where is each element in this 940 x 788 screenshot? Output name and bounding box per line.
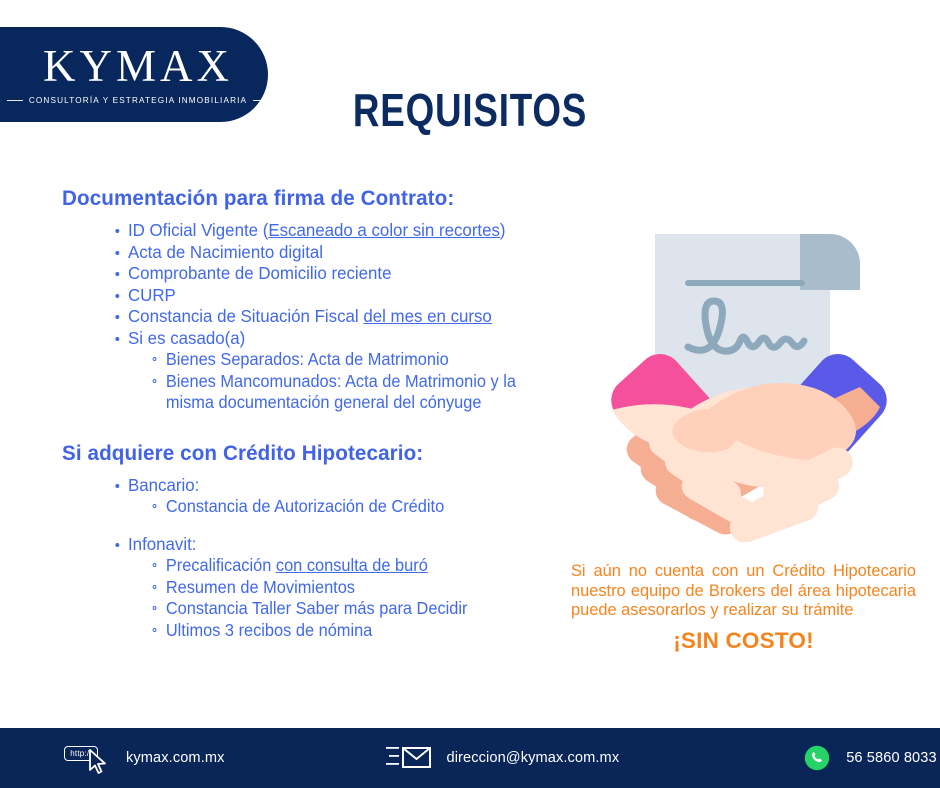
list-item: Ultimos 3 recibos de nómina xyxy=(166,620,538,642)
list-item: Constancia Taller Saber más para Decidir xyxy=(166,598,538,620)
list-item: Resumen de Movimientos xyxy=(166,577,538,599)
sublist-casado: Bienes Separados: Acta de Matrimonio Bie… xyxy=(128,349,549,414)
list-item: CURP xyxy=(128,285,549,307)
footer-whatsapp[interactable]: 56 5860 8033 xyxy=(804,745,936,771)
footer-email-label: direccion@kymax.com.mx xyxy=(447,750,620,766)
item-text: CURP xyxy=(128,285,176,305)
list-item: Acta de Nacimiento digital xyxy=(128,242,549,264)
list-item: Constancia de Autorización de Crédito xyxy=(166,496,538,518)
sublist-bancario: Constancia de Autorización de Crédito xyxy=(128,496,549,518)
item-text: Si es casado(a) xyxy=(128,328,245,348)
item-text: Infonavit: xyxy=(128,534,196,554)
requirements-list-credito: Bancario: Constancia de Autorización de … xyxy=(62,475,562,642)
item-text: Comprobante de Domicilio reciente xyxy=(128,263,391,283)
promo-block: Si aún no cuenta con un Crédito Hipoteca… xyxy=(571,562,916,654)
footer-website-label: kymax.com.mx xyxy=(126,750,225,766)
list-item: Constancia de Situación Fiscal del mes e… xyxy=(128,306,549,328)
item-text: Bancario: xyxy=(128,475,199,495)
list-item: Infonavit: Precalificación con consulta … xyxy=(128,534,549,642)
section-heading-documentacion: Documentación para firma de Contrato: xyxy=(62,186,542,211)
tagline-rule-left xyxy=(7,100,23,101)
handshake-contract-icon xyxy=(560,212,930,542)
promo-paragraph: Si aún no cuenta con un Crédito Hipoteca… xyxy=(571,562,916,621)
item-underlined: del mes en curso xyxy=(363,306,491,326)
page-title: REQUISITOS xyxy=(94,83,846,137)
list-item: Si es casado(a) Bienes Separados: Acta d… xyxy=(128,328,549,414)
whatsapp-icon xyxy=(804,745,830,771)
list-item: ID Oficial Vigente (Escaneado a color si… xyxy=(128,220,549,242)
footer-phone-label: 56 5860 8033 xyxy=(846,750,936,766)
envelope-icon xyxy=(385,745,431,771)
sublist-infonavit: Precalificación con consulta de buró Res… xyxy=(128,555,549,641)
item-text: Constancia de Situación Fiscal xyxy=(128,306,363,326)
requirements-content: Documentación para firma de Contrato: ID… xyxy=(62,186,562,641)
list-item: Bienes Mancomunados: Acta de Matrimonio … xyxy=(166,371,538,414)
item-text-after: ) xyxy=(500,220,506,240)
list-item: Bancario: Constancia de Autorización de … xyxy=(128,475,549,518)
requirements-list-documentacion: ID Oficial Vigente (Escaneado a color si… xyxy=(62,220,562,414)
list-item: Precalificación con consulta de buró xyxy=(166,555,538,577)
footer-bar: http:// kymax.com.mx direccion@kymax.com… xyxy=(0,728,940,788)
footer-email[interactable]: direccion@kymax.com.mx xyxy=(385,745,620,771)
item-underlined: Escaneado a color sin recortes xyxy=(268,220,500,240)
web-cursor-icon: http:// xyxy=(64,743,110,773)
promo-highlight: ¡SIN COSTO! xyxy=(571,628,916,654)
list-item: Bienes Separados: Acta de Matrimonio xyxy=(166,349,538,371)
item-text: Acta de Nacimiento digital xyxy=(128,242,323,262)
item-text: Precalificación xyxy=(166,555,276,575)
item-underlined: con consulta de buró xyxy=(276,555,428,575)
list-item: Comprobante de Domicilio reciente xyxy=(128,263,549,285)
footer-website[interactable]: http:// kymax.com.mx xyxy=(64,743,225,773)
section-heading-credito: Si adquiere con Crédito Hipotecario: xyxy=(62,441,542,466)
item-text: ID Oficial Vigente ( xyxy=(128,220,268,240)
